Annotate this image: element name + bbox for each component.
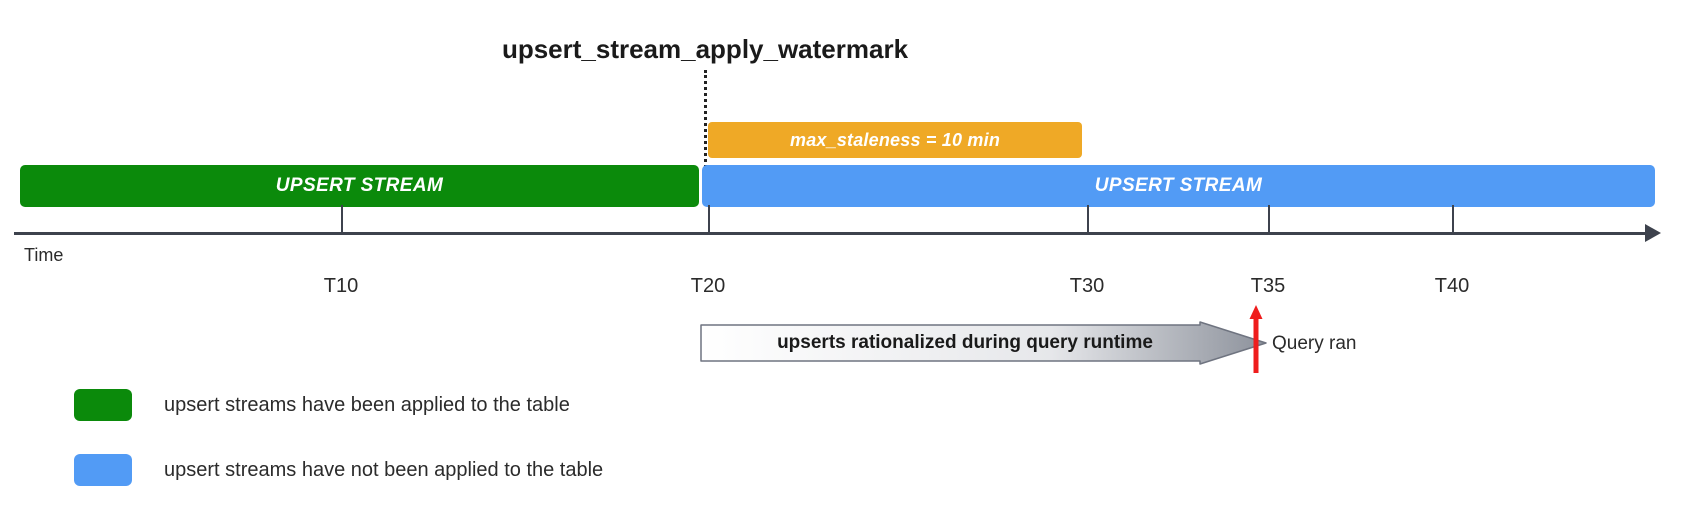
axis-tick-label-t35: T35 [1251,275,1285,298]
axis-tick-label-t40: T40 [1435,275,1469,298]
axis-tick-t20 [708,205,710,233]
legend-label-not-applied: upsert streams have not been applied to … [164,459,603,482]
axis-tick-t40 [1452,205,1454,233]
legend-label-applied: upsert streams have been applied to the … [164,394,570,417]
query-ran-arrow-icon [1249,305,1263,373]
rationalized-arrow-banner: upserts rationalized during query runtim… [700,321,1270,365]
axis-tick-label-t10: T10 [324,275,358,298]
legend-swatch-blue [74,454,132,486]
axis-tick-label-t20: T20 [691,275,725,298]
upsert-stream-not-applied-bar: UPSERT STREAM [702,165,1655,207]
time-axis-label: Time [24,245,63,266]
query-ran-label: Query ran [1272,333,1356,355]
diagram-title: upsert_stream_apply_watermark [455,34,955,65]
legend-item-not-applied: upsert streams have not been applied to … [74,453,603,487]
axis-tick-t35 [1268,205,1270,233]
rationalized-arrow-label: upserts rationalized during query runtim… [700,321,1230,365]
axis-tick-t10 [341,205,343,233]
upsert-stream-applied-bar: UPSERT STREAM [20,165,699,207]
diagram-canvas: upsert_stream_apply_watermark max_stalen… [0,0,1696,530]
axis-tick-label-t30: T30 [1070,275,1104,298]
max-staleness-bar: max_staleness = 10 min [708,122,1082,158]
legend-item-applied: upsert streams have been applied to the … [74,388,570,422]
time-axis-line [14,232,1654,235]
axis-tick-t30 [1087,205,1089,233]
legend-swatch-green [74,389,132,421]
time-axis-arrow-icon [1645,224,1661,242]
